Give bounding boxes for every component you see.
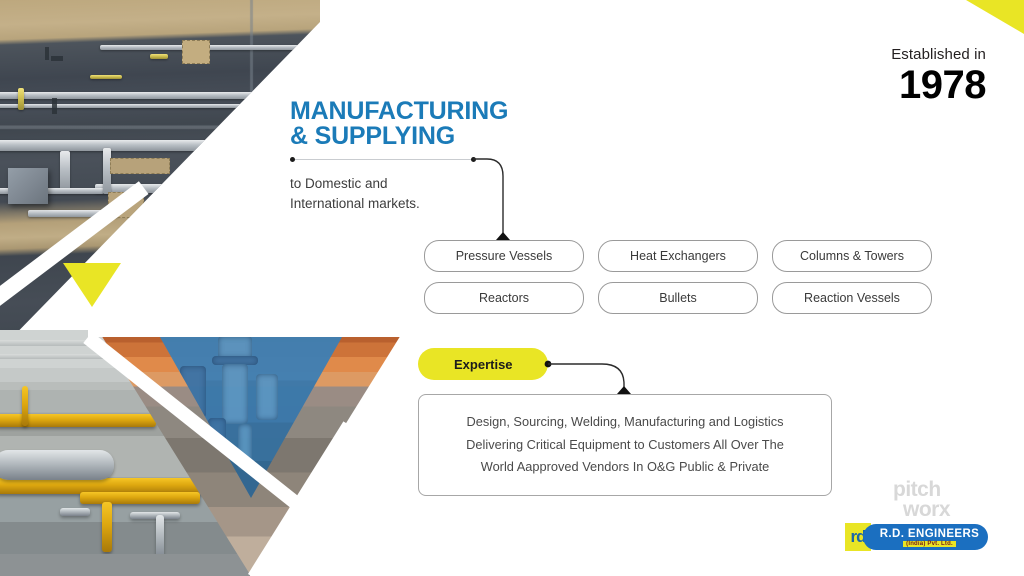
pill-bullets[interactable]: Bullets	[598, 282, 758, 314]
building-roof	[8, 168, 48, 204]
silver-pipe	[60, 508, 90, 516]
rd-engineers-logo[interactable]: rd R.D. ENGINEERS (India) Pvt. Ltd.	[845, 523, 988, 551]
aerial-refinery-image	[0, 0, 320, 350]
rule-dot-left-icon	[290, 157, 295, 162]
yellow-corner-accent	[966, 0, 1024, 34]
expertise-badge-label: Expertise	[454, 357, 513, 372]
yellow-pipe	[80, 492, 200, 504]
connector-path	[473, 159, 503, 240]
product-pill-grid: Pressure Vessels Heat Exchangers Columns…	[424, 240, 932, 324]
silver-vessel	[0, 450, 114, 480]
rd-logo-name: R.D. ENGINEERS	[880, 528, 980, 540]
established-label: Established in	[891, 46, 986, 63]
page-title: MANUFACTURING & SUPPLYING	[290, 99, 508, 149]
yellow-pipe	[22, 386, 28, 426]
established-year: 1978	[891, 66, 986, 104]
equipment-shadow	[51, 56, 63, 61]
diagonal-divider	[88, 322, 420, 337]
equipment-shadow	[45, 47, 49, 60]
pipe-run	[0, 92, 320, 99]
yellow-pipe	[102, 502, 112, 552]
slide-canvas: Established in 1978 MANUFACTURING & SUPP…	[0, 0, 1024, 576]
silver-pipe	[130, 512, 180, 519]
description-line-3: World Aapproved Vendors In O&G Public & …	[481, 456, 770, 478]
headline-line-1: MANUFACTURING	[290, 97, 508, 125]
description-line-1: Design, Sourcing, Welding, Manufacturing…	[466, 411, 783, 433]
vessel-shape	[218, 336, 252, 358]
aerial-refinery-photo	[0, 0, 320, 350]
pill-reaction-vessels[interactable]: Reaction Vessels	[772, 282, 932, 314]
subtitle-block: to Domestic and International markets.	[290, 174, 420, 213]
rd-logo-subtitle: (India) Pvt. Ltd.	[903, 541, 956, 547]
pipe-run-yellow	[18, 88, 24, 110]
title-underline-rule	[290, 156, 476, 163]
rule-line	[293, 159, 473, 160]
photo-collage	[0, 0, 420, 576]
pill-columns-and-towers[interactable]: Columns & Towers	[772, 240, 932, 272]
expertise-description-box: Design, Sourcing, Welding, Manufacturing…	[418, 394, 832, 496]
pipe-run-yellow	[150, 54, 168, 59]
established-block: Established in 1978	[891, 46, 986, 104]
expertise-badge[interactable]: Expertise	[418, 348, 548, 380]
pill-row-2: Reactors Bullets Reaction Vessels	[424, 282, 932, 314]
vessel-shape	[222, 364, 248, 424]
yellow-accent-triangle-small	[63, 263, 121, 307]
subtitle-line-2: International markets.	[290, 194, 420, 214]
pitchworx-line-2: worx	[903, 500, 950, 520]
pill-reactors[interactable]: Reactors	[424, 282, 584, 314]
connector-path	[548, 364, 624, 396]
pipe-run-yellow	[90, 75, 122, 79]
vessel-shape	[256, 374, 278, 420]
pipe-run	[100, 45, 320, 50]
connector-title-to-pills	[465, 152, 535, 252]
pill-pressure-vessels[interactable]: Pressure Vessels	[424, 240, 584, 272]
concrete-pad	[182, 40, 210, 64]
concrete-pad	[110, 158, 170, 174]
pipe-run	[0, 140, 240, 151]
pill-heat-exchangers[interactable]: Heat Exchangers	[598, 240, 758, 272]
description-line-2: Delivering Critical Equipment to Custome…	[466, 434, 784, 456]
pill-row-1: Pressure Vessels Heat Exchangers Columns…	[424, 240, 932, 272]
ground-plane	[0, 554, 250, 576]
equipment-shadow	[52, 98, 57, 114]
pitchworx-watermark: pitch worx	[893, 480, 950, 519]
subtitle-line-1: to Domestic and	[290, 174, 420, 194]
headline-line-2: & SUPPLYING	[290, 124, 508, 149]
pipe-run	[0, 104, 290, 108]
rd-logo-pill: R.D. ENGINEERS (India) Pvt. Ltd.	[863, 524, 988, 550]
pipe-run	[60, 151, 70, 191]
